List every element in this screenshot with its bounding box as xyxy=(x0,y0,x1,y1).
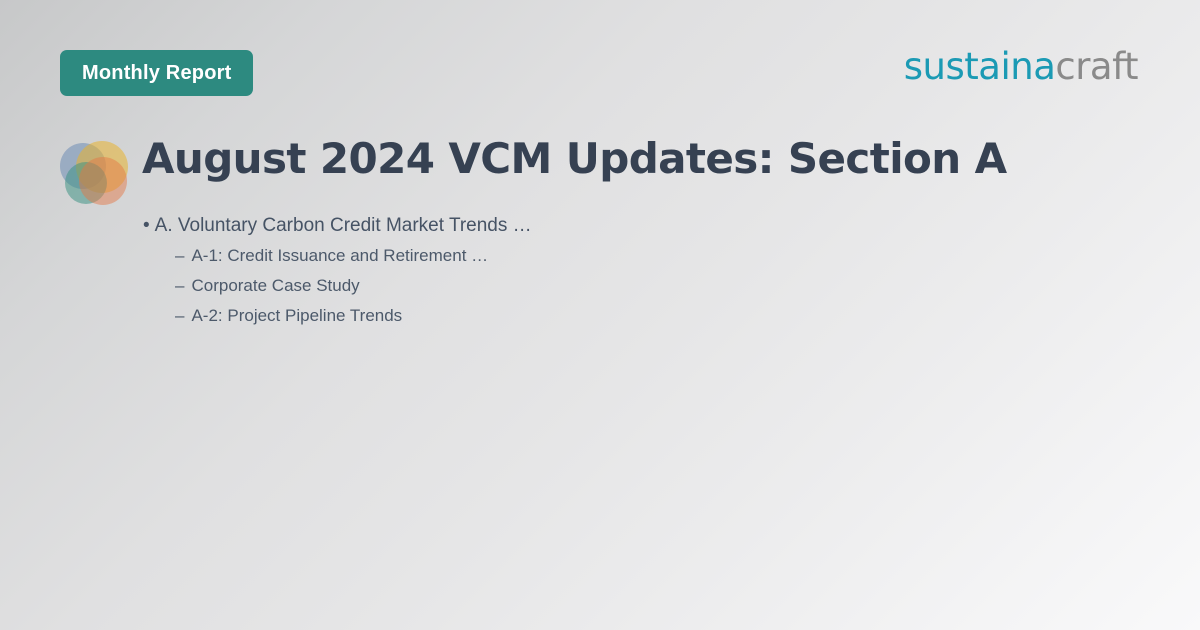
list-item-label: Corporate Case Study xyxy=(191,276,359,295)
slide-header: Monthly Report sustainacraft xyxy=(0,0,1200,125)
page-title: August 2024 VCM Updates: Section A xyxy=(142,136,1006,181)
sustainacraft-logo: sustainacraft xyxy=(904,48,1138,85)
title-row: August 2024 VCM Updates: Section A xyxy=(60,136,1140,207)
circle-bottom-right-icon xyxy=(79,157,127,205)
list-item: –Corporate Case Study xyxy=(175,271,532,301)
dash-marker-icon: – xyxy=(175,241,184,271)
list-item-label: A-2: Project Pipeline Trends xyxy=(191,306,402,325)
logo-text-craft: craft xyxy=(1055,45,1138,88)
list-item: •A. Voluntary Carbon Credit Market Trend… xyxy=(143,210,532,241)
dash-marker-icon: – xyxy=(175,301,184,331)
badge-label: Monthly Report xyxy=(82,63,231,83)
list-item: –A-2: Project Pipeline Trends xyxy=(175,301,532,331)
logo-text-sustaina: sustaina xyxy=(904,45,1056,88)
list-item-label: A. Voluntary Carbon Credit Market Trends… xyxy=(155,215,532,236)
monthly-report-badge: Monthly Report xyxy=(60,50,253,96)
list-item-label: A-1: Credit Issuance and Retirement … xyxy=(191,246,488,265)
four-overlapping-circles-logo-icon xyxy=(60,141,130,207)
outline-list: •A. Voluntary Carbon Credit Market Trend… xyxy=(143,210,532,331)
list-item: –A-1: Credit Issuance and Retirement … xyxy=(175,241,532,271)
dash-marker-icon: – xyxy=(175,271,184,301)
bullet-marker-icon: • xyxy=(143,210,150,241)
